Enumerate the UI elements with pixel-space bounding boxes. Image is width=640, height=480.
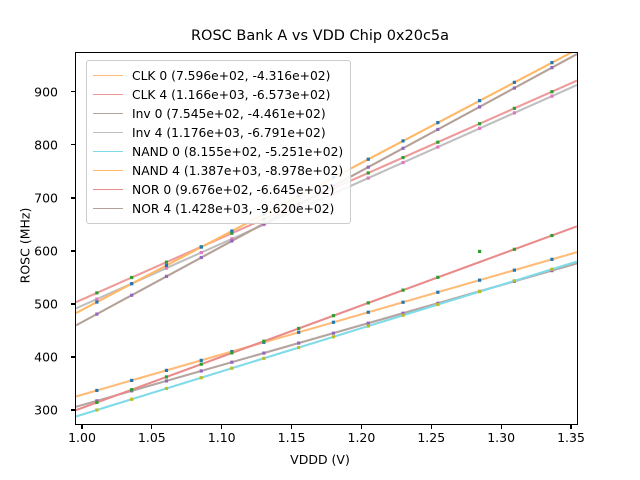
data-point (478, 290, 481, 293)
legend-swatch-icon (93, 189, 123, 190)
legend-label: NAND 4 (1.387e+03, -8.978e+02) (132, 164, 343, 178)
data-point (200, 246, 203, 249)
data-point (332, 321, 335, 324)
legend-label: Inv 4 (1.176e+03, -6.791e+02) (132, 126, 326, 140)
x-tick-mark (361, 425, 362, 429)
data-point (262, 340, 265, 343)
data-point (130, 398, 133, 401)
y-tick-label: 900 (0, 84, 58, 99)
data-point (332, 332, 335, 335)
legend-item-inv-0[interactable]: Inv 0 (7.545e+02, -4.461e+02) (93, 104, 343, 123)
data-point (401, 147, 404, 150)
y-tick-label: 600 (0, 243, 58, 258)
data-point (165, 369, 168, 372)
legend-swatch-icon (93, 208, 123, 209)
data-point (297, 342, 300, 345)
legend-label: CLK 4 (1.166e+03, -6.573e+02) (132, 88, 330, 102)
x-tick-mark (221, 425, 222, 429)
data-point (130, 276, 133, 279)
data-point (95, 297, 98, 300)
data-point (513, 269, 516, 272)
data-point (401, 289, 404, 292)
data-point (367, 324, 370, 327)
data-point (367, 158, 370, 161)
data-point (95, 291, 98, 294)
data-point (332, 314, 335, 317)
data-point (95, 408, 98, 411)
data-point (230, 361, 233, 364)
data-point (513, 107, 516, 110)
data-point (200, 256, 203, 259)
y-tick-label: 800 (0, 137, 58, 152)
data-point (367, 166, 370, 169)
data-point (550, 234, 553, 237)
legend-item-clk-4[interactable]: CLK 4 (1.166e+03, -6.573e+02) (93, 85, 343, 104)
legend-item-clk-0[interactable]: CLK 0 (7.596e+02, -4.316e+02) (93, 66, 343, 85)
data-point (262, 357, 265, 360)
legend-label: CLK 0 (7.596e+02, -4.316e+02) (132, 69, 330, 83)
legend-swatch-icon (93, 132, 123, 133)
data-point (550, 268, 553, 271)
x-axis-label: VDDD (V) (0, 452, 640, 467)
x-tick-label: 1.30 (487, 430, 515, 445)
data-point (297, 327, 300, 330)
x-tick-mark (151, 425, 152, 429)
data-point (436, 121, 439, 124)
data-point (478, 250, 481, 253)
x-tick-mark (570, 425, 571, 429)
data-point (401, 161, 404, 164)
data-point (436, 276, 439, 279)
legend-label: NOR 0 (9.676e+02, -6.645e+02) (132, 183, 334, 197)
legend-item-inv-4[interactable]: Inv 4 (1.176e+03, -6.791e+02) (93, 123, 343, 142)
data-point (513, 111, 516, 114)
data-point (230, 239, 233, 242)
legend-item-nor-4[interactable]: NOR 4 (1.428e+03, -9.620e+02) (93, 199, 343, 218)
y-tick-label: 300 (0, 403, 58, 418)
legend-item-nor-0[interactable]: NOR 0 (9.676e+02, -6.645e+02) (93, 180, 343, 199)
data-point (230, 367, 233, 370)
data-point (367, 171, 370, 174)
data-point (200, 376, 203, 379)
y-tick-label: 500 (0, 297, 58, 312)
data-point (478, 105, 481, 108)
data-point (550, 90, 553, 93)
x-tick-label: 1.20 (348, 430, 376, 445)
data-point (436, 141, 439, 144)
data-point (200, 363, 203, 366)
data-point (95, 389, 98, 392)
legend-swatch-icon (93, 113, 123, 114)
x-tick-label: 1.00 (68, 430, 96, 445)
fit-line (76, 226, 577, 410)
data-point (550, 258, 553, 261)
legend-swatch-icon (93, 170, 123, 171)
data-point (200, 251, 203, 254)
legend-label: NOR 4 (1.428e+03, -9.620e+02) (132, 202, 334, 216)
data-point (478, 122, 481, 125)
data-point (401, 314, 404, 317)
x-tick-mark (501, 425, 502, 429)
data-point (478, 279, 481, 282)
data-point (297, 346, 300, 349)
data-point (165, 379, 168, 382)
data-point (436, 303, 439, 306)
x-tick-label: 1.25 (417, 430, 445, 445)
data-point (230, 229, 233, 232)
legend-item-nand-4[interactable]: NAND 4 (1.387e+03, -8.978e+02) (93, 161, 343, 180)
x-tick-label: 1.35 (557, 430, 585, 445)
data-point (262, 351, 265, 354)
y-tick-label: 400 (0, 350, 58, 365)
data-point (401, 301, 404, 304)
x-tick-mark (81, 425, 82, 429)
x-tick-label: 1.10 (208, 430, 236, 445)
data-point (95, 312, 98, 315)
chart-title: ROSC Bank A vs VDD Chip 0x20c5a (0, 28, 640, 44)
data-point (165, 375, 168, 378)
legend: CLK 0 (7.596e+02, -4.316e+02)CLK 4 (1.16… (86, 60, 351, 224)
x-tick-mark (291, 425, 292, 429)
data-point (95, 401, 98, 404)
data-point (200, 359, 203, 362)
data-point (478, 127, 481, 130)
data-point (550, 61, 553, 64)
legend-swatch-icon (93, 94, 123, 95)
data-point (130, 379, 133, 382)
data-point (130, 294, 133, 297)
data-point (478, 99, 481, 102)
legend-item-nand-0[interactable]: NAND 0 (8.155e+02, -5.251e+02) (93, 142, 343, 161)
data-point (401, 139, 404, 142)
data-point (436, 291, 439, 294)
data-point (165, 264, 168, 267)
x-tick-mark (431, 425, 432, 429)
data-point (367, 176, 370, 179)
legend-swatch-icon (93, 151, 123, 152)
legend-swatch-icon (93, 75, 123, 76)
data-point (367, 322, 370, 325)
data-point (95, 300, 98, 303)
data-point (513, 279, 516, 282)
legend-label: NAND 0 (8.155e+02, -5.251e+02) (132, 145, 343, 159)
x-tick-label: 1.05 (138, 430, 166, 445)
data-point (332, 335, 335, 338)
data-point (165, 275, 168, 278)
data-point (297, 331, 300, 334)
data-point (550, 66, 553, 69)
legend-label: Inv 0 (7.545e+02, -4.461e+02) (132, 107, 326, 121)
data-point (550, 95, 553, 98)
data-point (130, 282, 133, 285)
data-point (367, 311, 370, 314)
y-tick-label: 700 (0, 190, 58, 205)
data-point (513, 81, 516, 84)
data-point (367, 301, 370, 304)
data-point (165, 261, 168, 264)
figure: ROSC Bank A vs VDD Chip 0x20c5a ROSC (MH… (0, 0, 640, 480)
data-point (200, 369, 203, 372)
data-point (513, 248, 516, 251)
data-point (513, 86, 516, 89)
data-point (436, 128, 439, 131)
data-point (230, 351, 233, 354)
x-tick-label: 1.15 (278, 430, 306, 445)
data-point (436, 145, 439, 148)
data-point (165, 387, 168, 390)
data-point (401, 156, 404, 159)
data-point (130, 388, 133, 391)
